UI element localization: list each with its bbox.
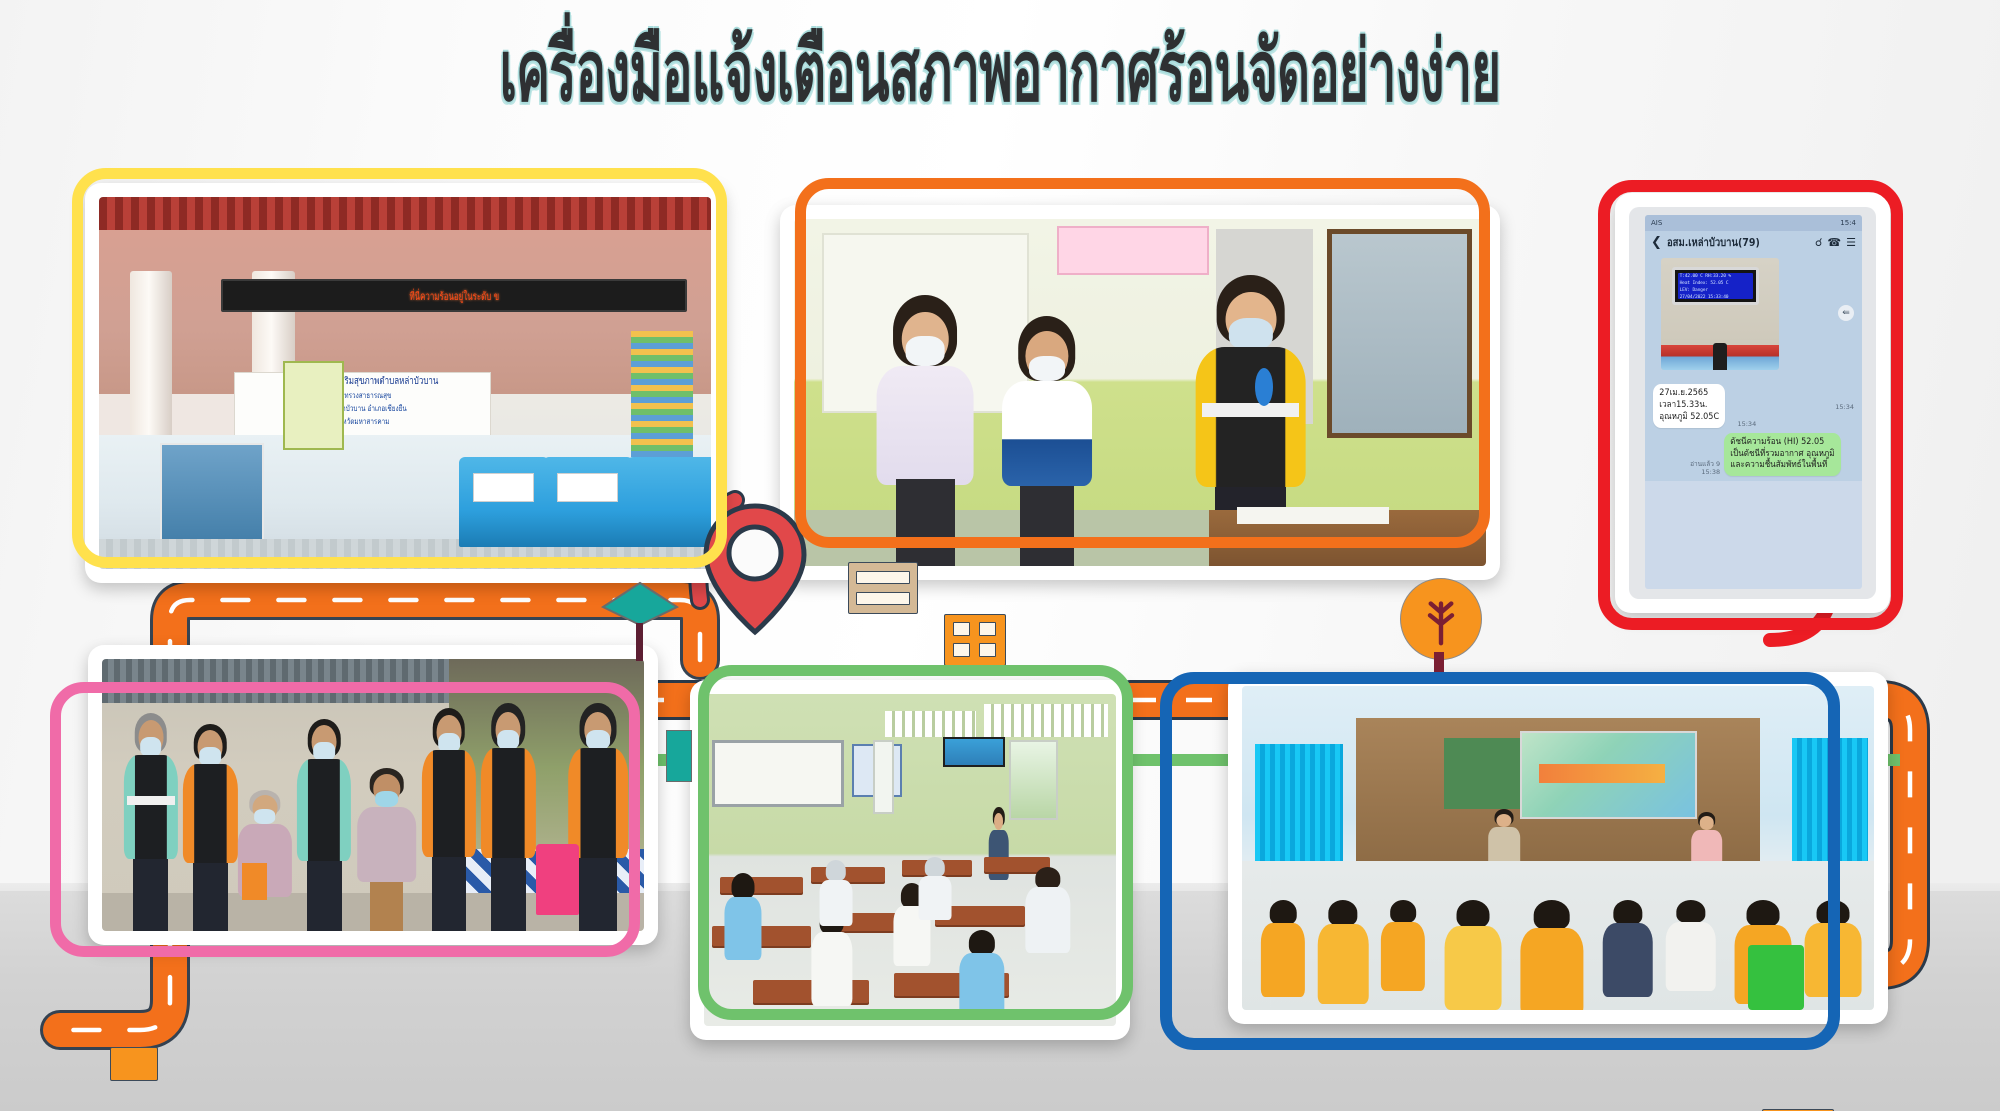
led-sign-text: ที่นี่ความร้อนอยู่ในระดับ ข	[409, 287, 499, 305]
building-icon-tan	[848, 562, 918, 614]
tree-icon-orange	[1400, 578, 1482, 660]
lcd-line-4: 27/04/2022 15:33:40	[1680, 295, 1751, 299]
photo-timestamp: 15:34	[1835, 403, 1854, 411]
line-chat-screenshot: AIS 15:4 ❮ อสม.เหล่าบัวบาน(79) ☌ ☎ ☰	[1629, 207, 1876, 599]
volunteer-1	[124, 713, 178, 931]
speaker-person-1	[877, 295, 974, 566]
poster-canvas: เครื่องมือแจ้งเตือนสภาพอากาศร้อนจัดอย่าง…	[0, 0, 2000, 1111]
message-row-green: อ่านแล้ว 9 15:38 ดัชนีความร้อน (HI) 52.0…	[1653, 433, 1854, 477]
lcd-line-2: Heat Index: 52.05 C	[1680, 281, 1751, 288]
msg1-line1: 27เม.ย.2565	[1659, 388, 1719, 400]
teal-marker	[666, 730, 692, 782]
phone-status-bar: AIS 15:4	[1645, 215, 1862, 231]
lcd-line-3: LEV: Danger	[1680, 288, 1751, 295]
status-battery: 15:4	[1840, 219, 1856, 227]
wall-posters	[631, 331, 692, 457]
card-community[interactable]	[88, 645, 658, 945]
card-phone[interactable]: AIS 15:4 ❮ อสม.เหล่าบัวบาน(79) ☌ ☎ ☰	[1615, 193, 1890, 613]
volunteer-5	[481, 703, 535, 931]
hamburger-menu-icon[interactable]: ☰	[1846, 236, 1856, 249]
audience-member	[1602, 900, 1653, 997]
page-title: เครื่องมือแจ้งเตือนสภาพอากาศร้อนจัดอย่าง…	[500, 26, 1501, 117]
tree-icon-orange-trunk	[1434, 652, 1444, 676]
msg2-line1: ดัชนีความร้อน (HI) 52.05	[1730, 437, 1834, 449]
audience-member	[1665, 900, 1716, 991]
student	[819, 860, 852, 926]
msg2-line3: และความชื้นสัมพัทธ์ในพื้นที่	[1730, 460, 1834, 472]
msg1-line3: อุณหภูมิ 52.05C	[1659, 412, 1719, 424]
community-meeting-hall-photo	[1242, 686, 1874, 1010]
map-pin-icon	[700, 498, 810, 638]
student	[959, 930, 1004, 1020]
msg2-timestamp: 15:38	[1701, 468, 1720, 476]
audience-member	[1381, 900, 1425, 991]
audience-member	[1444, 900, 1501, 1010]
chevron-left-icon[interactable]: ❮	[1651, 235, 1662, 250]
lcd-line-1: T:42.00 C RH:33.20 %	[1680, 274, 1751, 281]
message-bubble-white: 27เม.ย.2565 เวลา15.33น. อุณหภูมิ 52.05C	[1653, 384, 1725, 428]
hospital-entrance-photo: โรงพยาบาลส่งเสริมสุขภาพตำบลหล่าบัวบาน กร…	[99, 197, 711, 569]
building-icon-small-left	[110, 1047, 158, 1081]
chat-title: อสม.เหล่าบัวบาน(79)	[1667, 233, 1790, 251]
elderly-resident-1	[238, 790, 292, 931]
sensor-probe	[1713, 343, 1727, 370]
speaker-person-2	[1002, 316, 1092, 566]
lcd-display: T:42.00 C RH:33.20 % Heat Index: 52.05 C…	[1672, 267, 1759, 305]
presenter-left	[1488, 809, 1520, 867]
message-bubble-green: ดัชนีความร้อน (HI) 52.05 เป็นดัชนีที่รวม…	[1724, 433, 1841, 477]
chat-message-area: T:42.00 C RH:33.20 % Heat Index: 52.05 C…	[1645, 253, 1862, 481]
search-icon[interactable]: ☌	[1815, 236, 1822, 249]
share-icon[interactable]: ⇚	[1838, 305, 1854, 321]
student	[1025, 867, 1070, 953]
card-classroom[interactable]	[690, 680, 1130, 1040]
card-hospital[interactable]: โรงพยาบาลส่งเสริมสุขภาพตำบลหล่าบัวบาน กร…	[85, 183, 725, 583]
volunteer-3	[297, 719, 351, 931]
led-heat-warning-sign: ที่นี่ความร้อนอยู่ในระดับ ข	[221, 279, 686, 312]
sensor-device-photo[interactable]: T:42.00 C RH:33.20 % Heat Index: 52.05 C…	[1661, 258, 1779, 370]
school-classroom-photo	[704, 694, 1116, 1026]
message-row-white: 27เม.ย.2565 เวลา15.33น. อุณหภูมิ 52.05C …	[1653, 384, 1854, 428]
student	[725, 873, 762, 959]
card-speakers[interactable]	[780, 205, 1500, 580]
msg1-timestamp: 15:34	[1737, 420, 1756, 428]
audience-member	[1804, 900, 1861, 997]
msg2-line2: เป็นดัชนีที่รวมอากาศ อุณหภูมิ	[1730, 449, 1834, 461]
volunteer-2	[183, 724, 237, 931]
phone-icon[interactable]: ☎	[1827, 236, 1841, 249]
audience-member	[1520, 900, 1583, 1010]
tree-icon-teal	[595, 575, 685, 661]
phone-mockup: AIS 15:4 ❮ อสม.เหล่าบัวบาน(79) ☌ ☎ ☰	[1629, 207, 1876, 599]
status-carrier: AIS	[1651, 219, 1662, 227]
card-meeting[interactable]	[1228, 672, 1888, 1024]
building-icon-orange	[944, 614, 1006, 666]
chat-header: ❮ อสม.เหล่าบัวบาน(79) ☌ ☎ ☰	[1645, 231, 1862, 253]
waiting-chairs	[99, 457, 699, 546]
student	[918, 857, 951, 920]
community-home-visit-photo	[102, 659, 644, 931]
seated-resident	[357, 768, 417, 931]
audience-member	[1261, 900, 1305, 997]
msg2-read-label: อ่านแล้ว 9	[1690, 460, 1720, 468]
page-title-container: เครื่องมือแจ้งเตือนสภาพอากาศร้อนจัดอย่าง…	[0, 26, 2000, 117]
audience-member	[1318, 900, 1369, 1004]
msg1-line2: เวลา15.33น.	[1659, 400, 1719, 412]
volunteer-4	[422, 708, 476, 931]
health-volunteers-speaking-photo	[794, 219, 1486, 566]
